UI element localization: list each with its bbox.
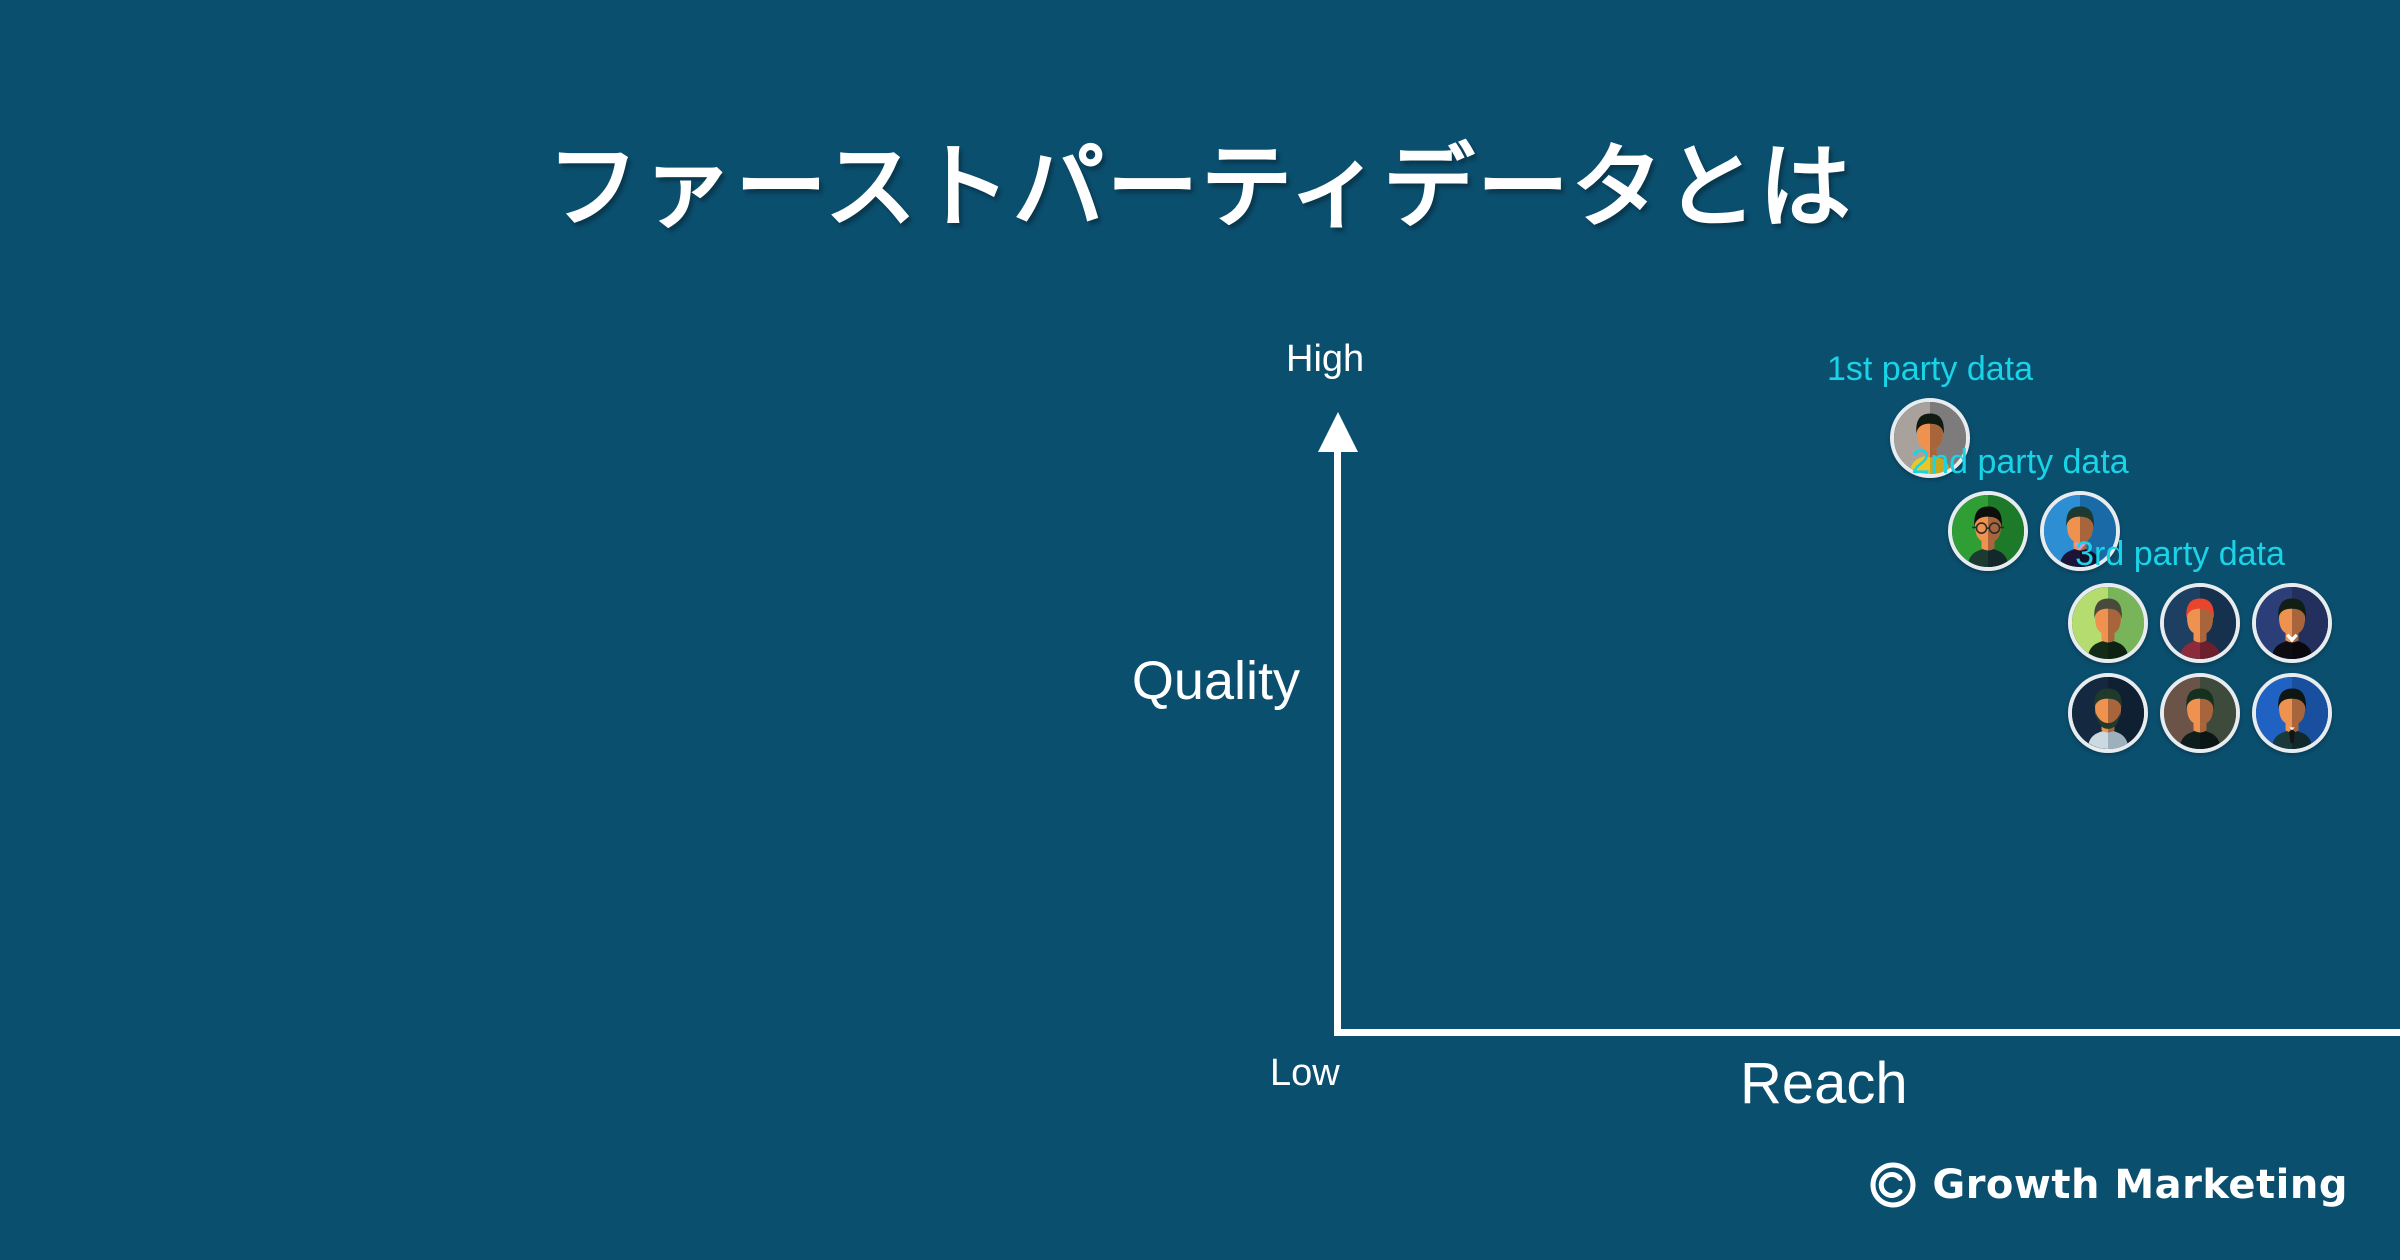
- y-axis-arrow-icon: [1318, 412, 1358, 452]
- x-axis-low-label: Low: [1270, 1052, 1340, 1095]
- y-axis-line: [1334, 445, 1341, 1035]
- brand-logo: Growth Marketing: [1870, 1162, 2348, 1208]
- avatar: [2160, 673, 2240, 753]
- x-axis-title: Reach: [1740, 1050, 1908, 1117]
- page-title: ファーストパーティデータとは: [0, 140, 2400, 237]
- avatar: [2068, 583, 2148, 663]
- copyright-circle-icon: [1870, 1162, 1916, 1208]
- y-axis-title: Quality: [980, 650, 1300, 712]
- avatar-grid-3rd-party: [2068, 583, 2332, 753]
- avatar: [2252, 673, 2332, 753]
- group-label-3rd-party: 3rd party data: [2075, 535, 2285, 574]
- group-label-2nd-party: 2nd party data: [1911, 443, 2128, 482]
- x-axis-line: [1334, 1029, 2400, 1036]
- slide-canvas: ファーストパーティデータとは High Quality Low Reach Hi…: [0, 0, 2400, 1260]
- logo-text: Growth Marketing: [1932, 1162, 2348, 1208]
- avatar: [2160, 583, 2240, 663]
- avatar: [1948, 491, 2028, 571]
- quality-reach-chart: High Quality Low Reach High 1st party da…: [1250, 350, 2080, 1100]
- group-label-1st-party: 1st party data: [1827, 350, 2033, 389]
- avatar: [2252, 583, 2332, 663]
- y-axis-high-label: High: [1286, 338, 1364, 381]
- avatar: [2068, 673, 2148, 753]
